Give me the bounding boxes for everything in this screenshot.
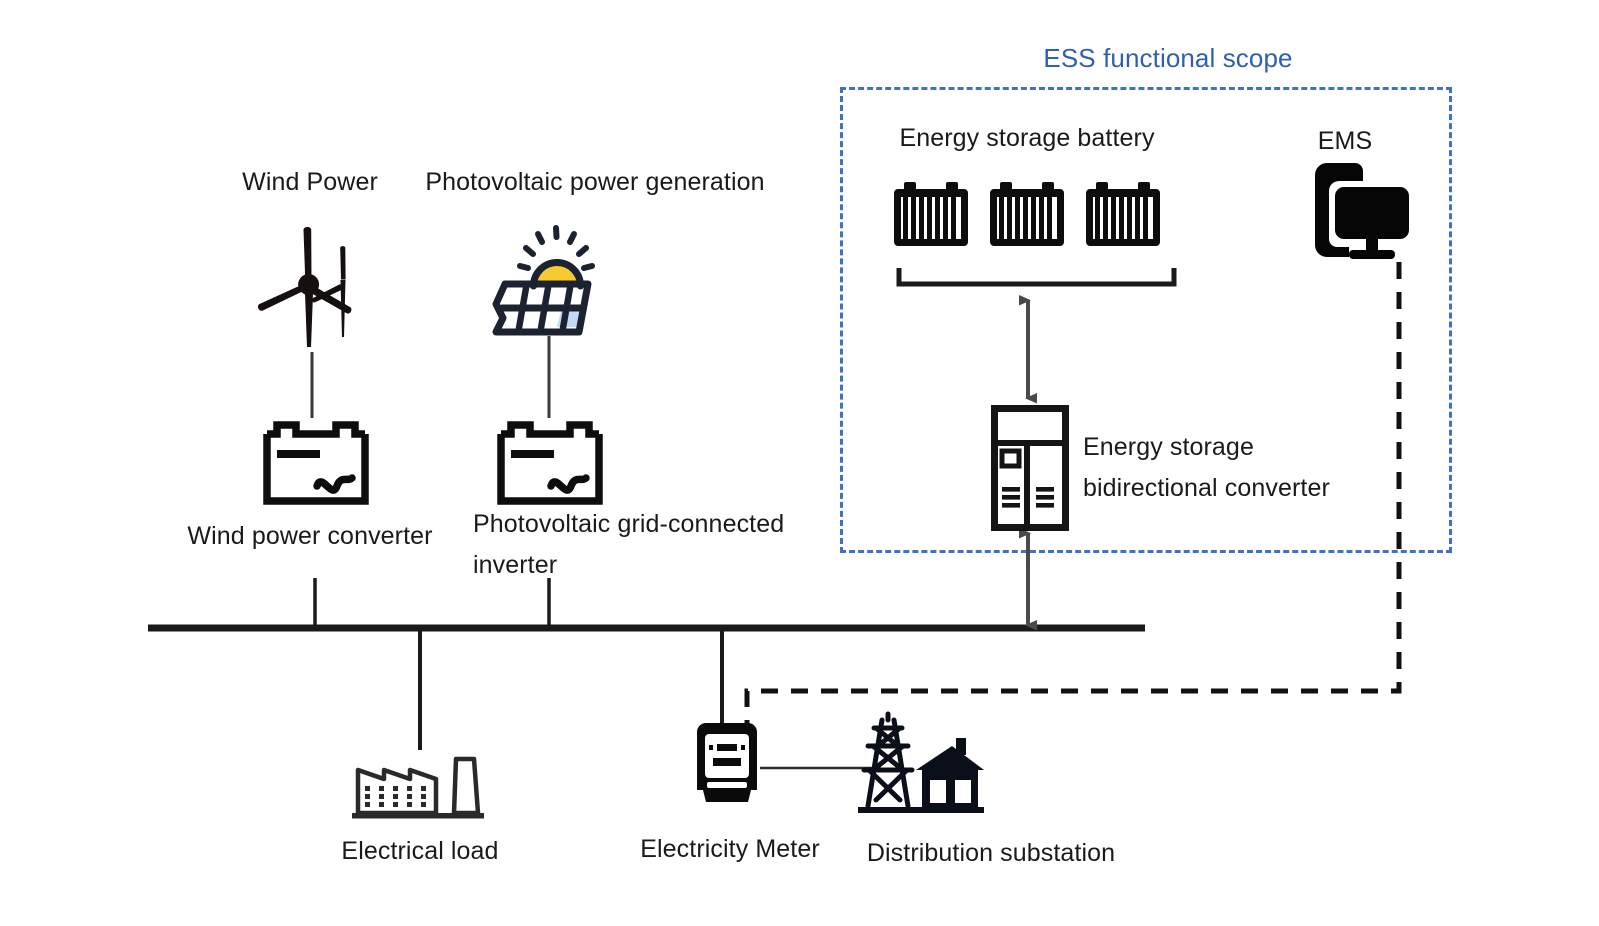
battery-bank-icon	[890, 182, 1178, 250]
label-distribution-substation: Distribution substation	[867, 836, 1115, 870]
label-electrical-load: Electrical load	[341, 834, 498, 868]
label-pv-grid-connected-inverter-line2: inverter	[473, 548, 557, 582]
factory-icon	[352, 749, 484, 819]
ess-functional-scope-box	[840, 87, 1452, 553]
converter-icon-wind	[262, 420, 370, 506]
label-pv-grid-connected-inverter-line1: Photovoltaic grid-connected	[473, 507, 784, 541]
label-wind-power: Wind Power	[242, 165, 378, 199]
converter-icon-pv	[496, 420, 604, 506]
pylon-house-icon	[856, 708, 986, 818]
wind-turbine-icon	[245, 222, 380, 355]
label-wind-power-converter: Wind power converter	[187, 519, 432, 553]
solar-panel-icon	[478, 222, 608, 338]
cabinet-converter-icon	[991, 405, 1069, 531]
computer-monitor-icon	[1309, 161, 1411, 261]
diagram-canvas: ESS functional scope Wind Power Photovol…	[0, 0, 1599, 926]
ess-scope-title: ESS functional scope	[1043, 41, 1292, 75]
label-photovoltaic-power-generation: Photovoltaic power generation	[425, 165, 764, 199]
meter-icon	[688, 722, 766, 814]
label-electricity-meter: Electricity Meter	[640, 832, 820, 866]
